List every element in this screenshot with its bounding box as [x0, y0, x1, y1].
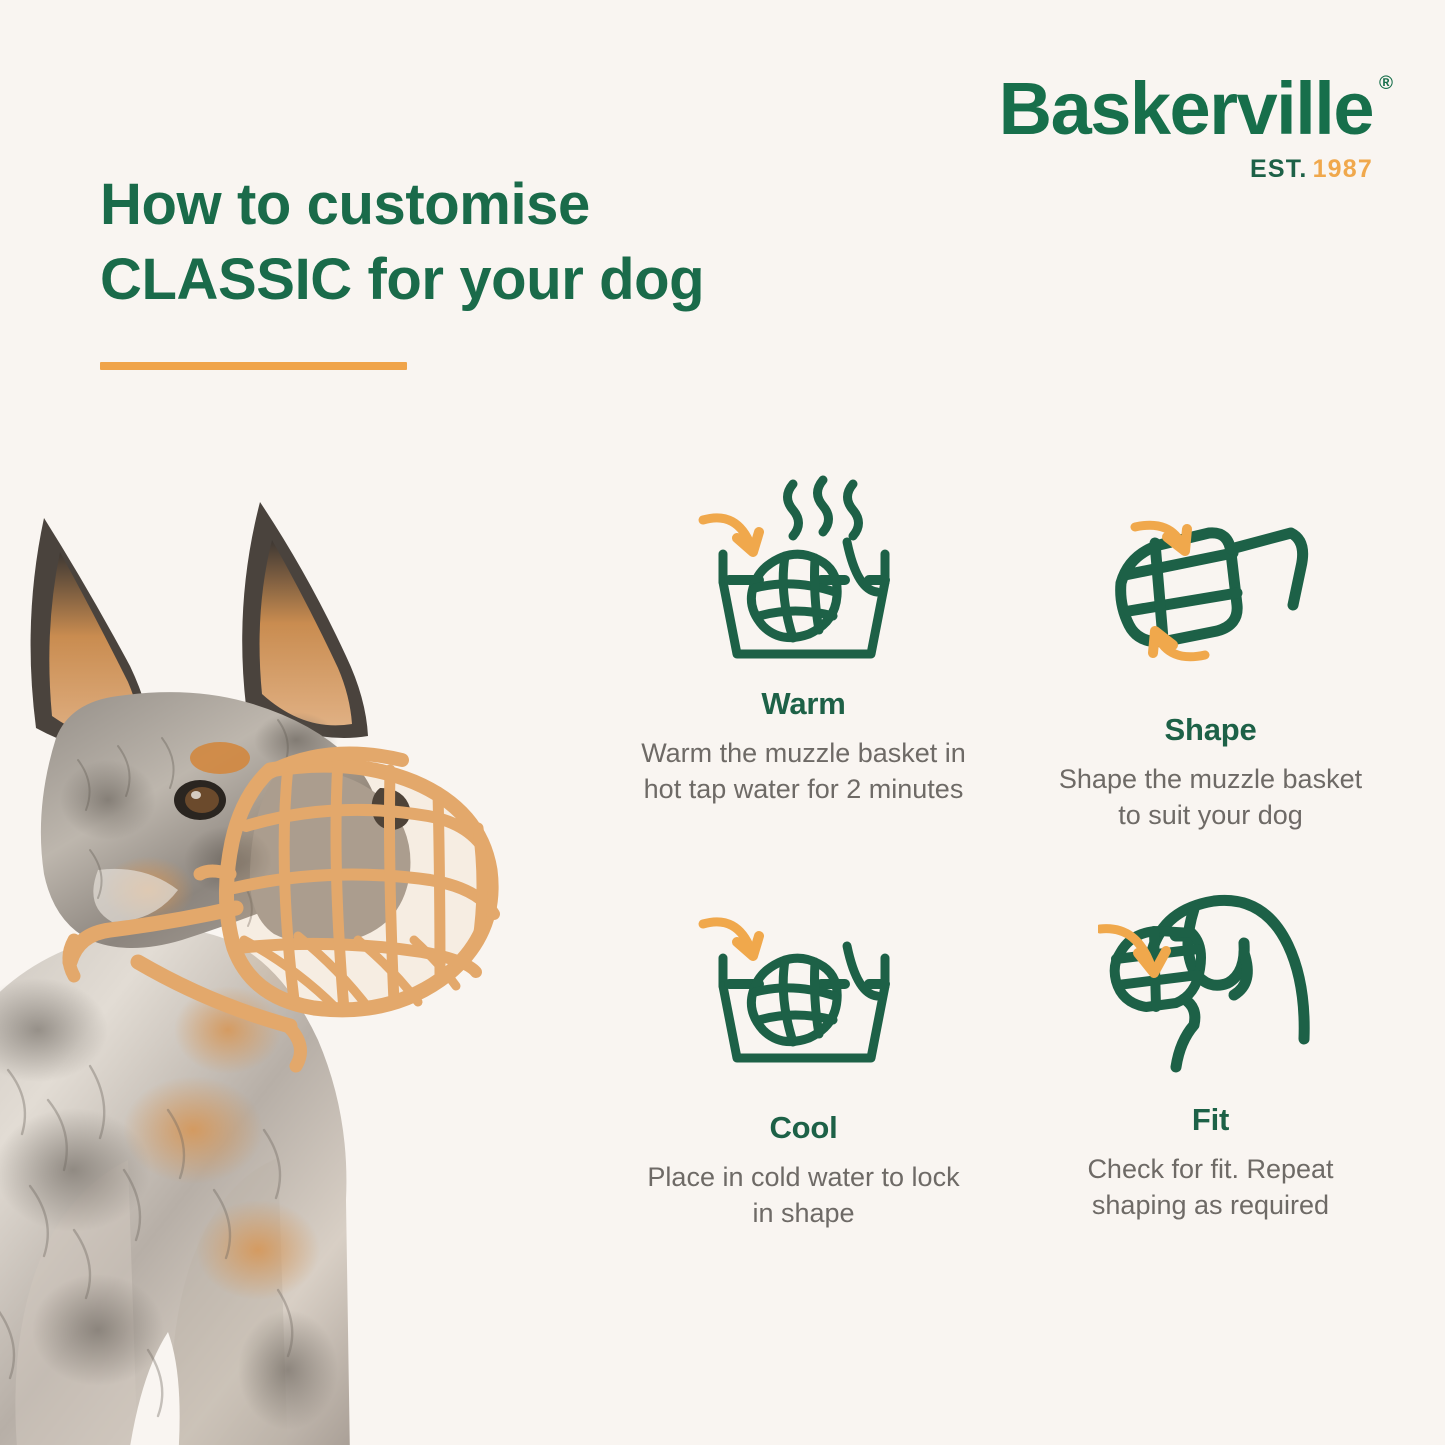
shape-muzzle-icon [1091, 481, 1331, 696]
brand-wordmark-text: Baskerville [999, 67, 1373, 150]
step-shape: Shape Shape the muzzle basket to suit yo… [1019, 455, 1402, 865]
step-description-shape: Shape the muzzle basket to suit your dog [1046, 762, 1376, 833]
step-title-shape: Shape [1164, 712, 1256, 748]
registered-trademark-icon: ® [1379, 74, 1393, 93]
dog-product-photo [0, 470, 598, 1445]
step-description-cool: Place in cold water to lock in shape [639, 1160, 969, 1231]
step-cool: Cool Place in cold water to lock in shap… [612, 875, 995, 1285]
step-title-warm: Warm [761, 686, 845, 722]
cool-basin-icon [684, 889, 924, 1104]
steps-grid: Warm Warm the muzzle basket in hot tap w… [612, 455, 1402, 1285]
established-label: EST. [1250, 155, 1308, 183]
step-title-fit: Fit [1192, 1102, 1229, 1138]
fit-dog-head-icon [1091, 881, 1331, 1096]
page-title-line-2: CLASSIC for your dog [100, 242, 860, 317]
accent-rule-divider [100, 362, 407, 370]
step-description-warm: Warm the muzzle basket in hot tap water … [639, 736, 969, 807]
page-title-line-1: How to customise [100, 172, 590, 237]
step-title-cool: Cool [769, 1110, 837, 1146]
step-fit: Fit Check for fit. Repeat shaping as req… [1019, 875, 1402, 1285]
brand-wordmark-container: Baskerville ® [999, 72, 1373, 146]
brand-logo: Baskerville ® EST.1987 [999, 72, 1373, 182]
step-warm: Warm Warm the muzzle basket in hot tap w… [612, 455, 995, 865]
warm-basin-icon [684, 465, 924, 680]
brand-established: EST.1987 [999, 157, 1373, 182]
step-description-fit: Check for fit. Repeat shaping as require… [1046, 1152, 1376, 1223]
established-year: 1987 [1313, 155, 1373, 183]
infographic-page: Baskerville ® EST.1987 How to customise … [0, 0, 1445, 1445]
page-title: How to customise CLASSIC for your dog [100, 167, 860, 318]
